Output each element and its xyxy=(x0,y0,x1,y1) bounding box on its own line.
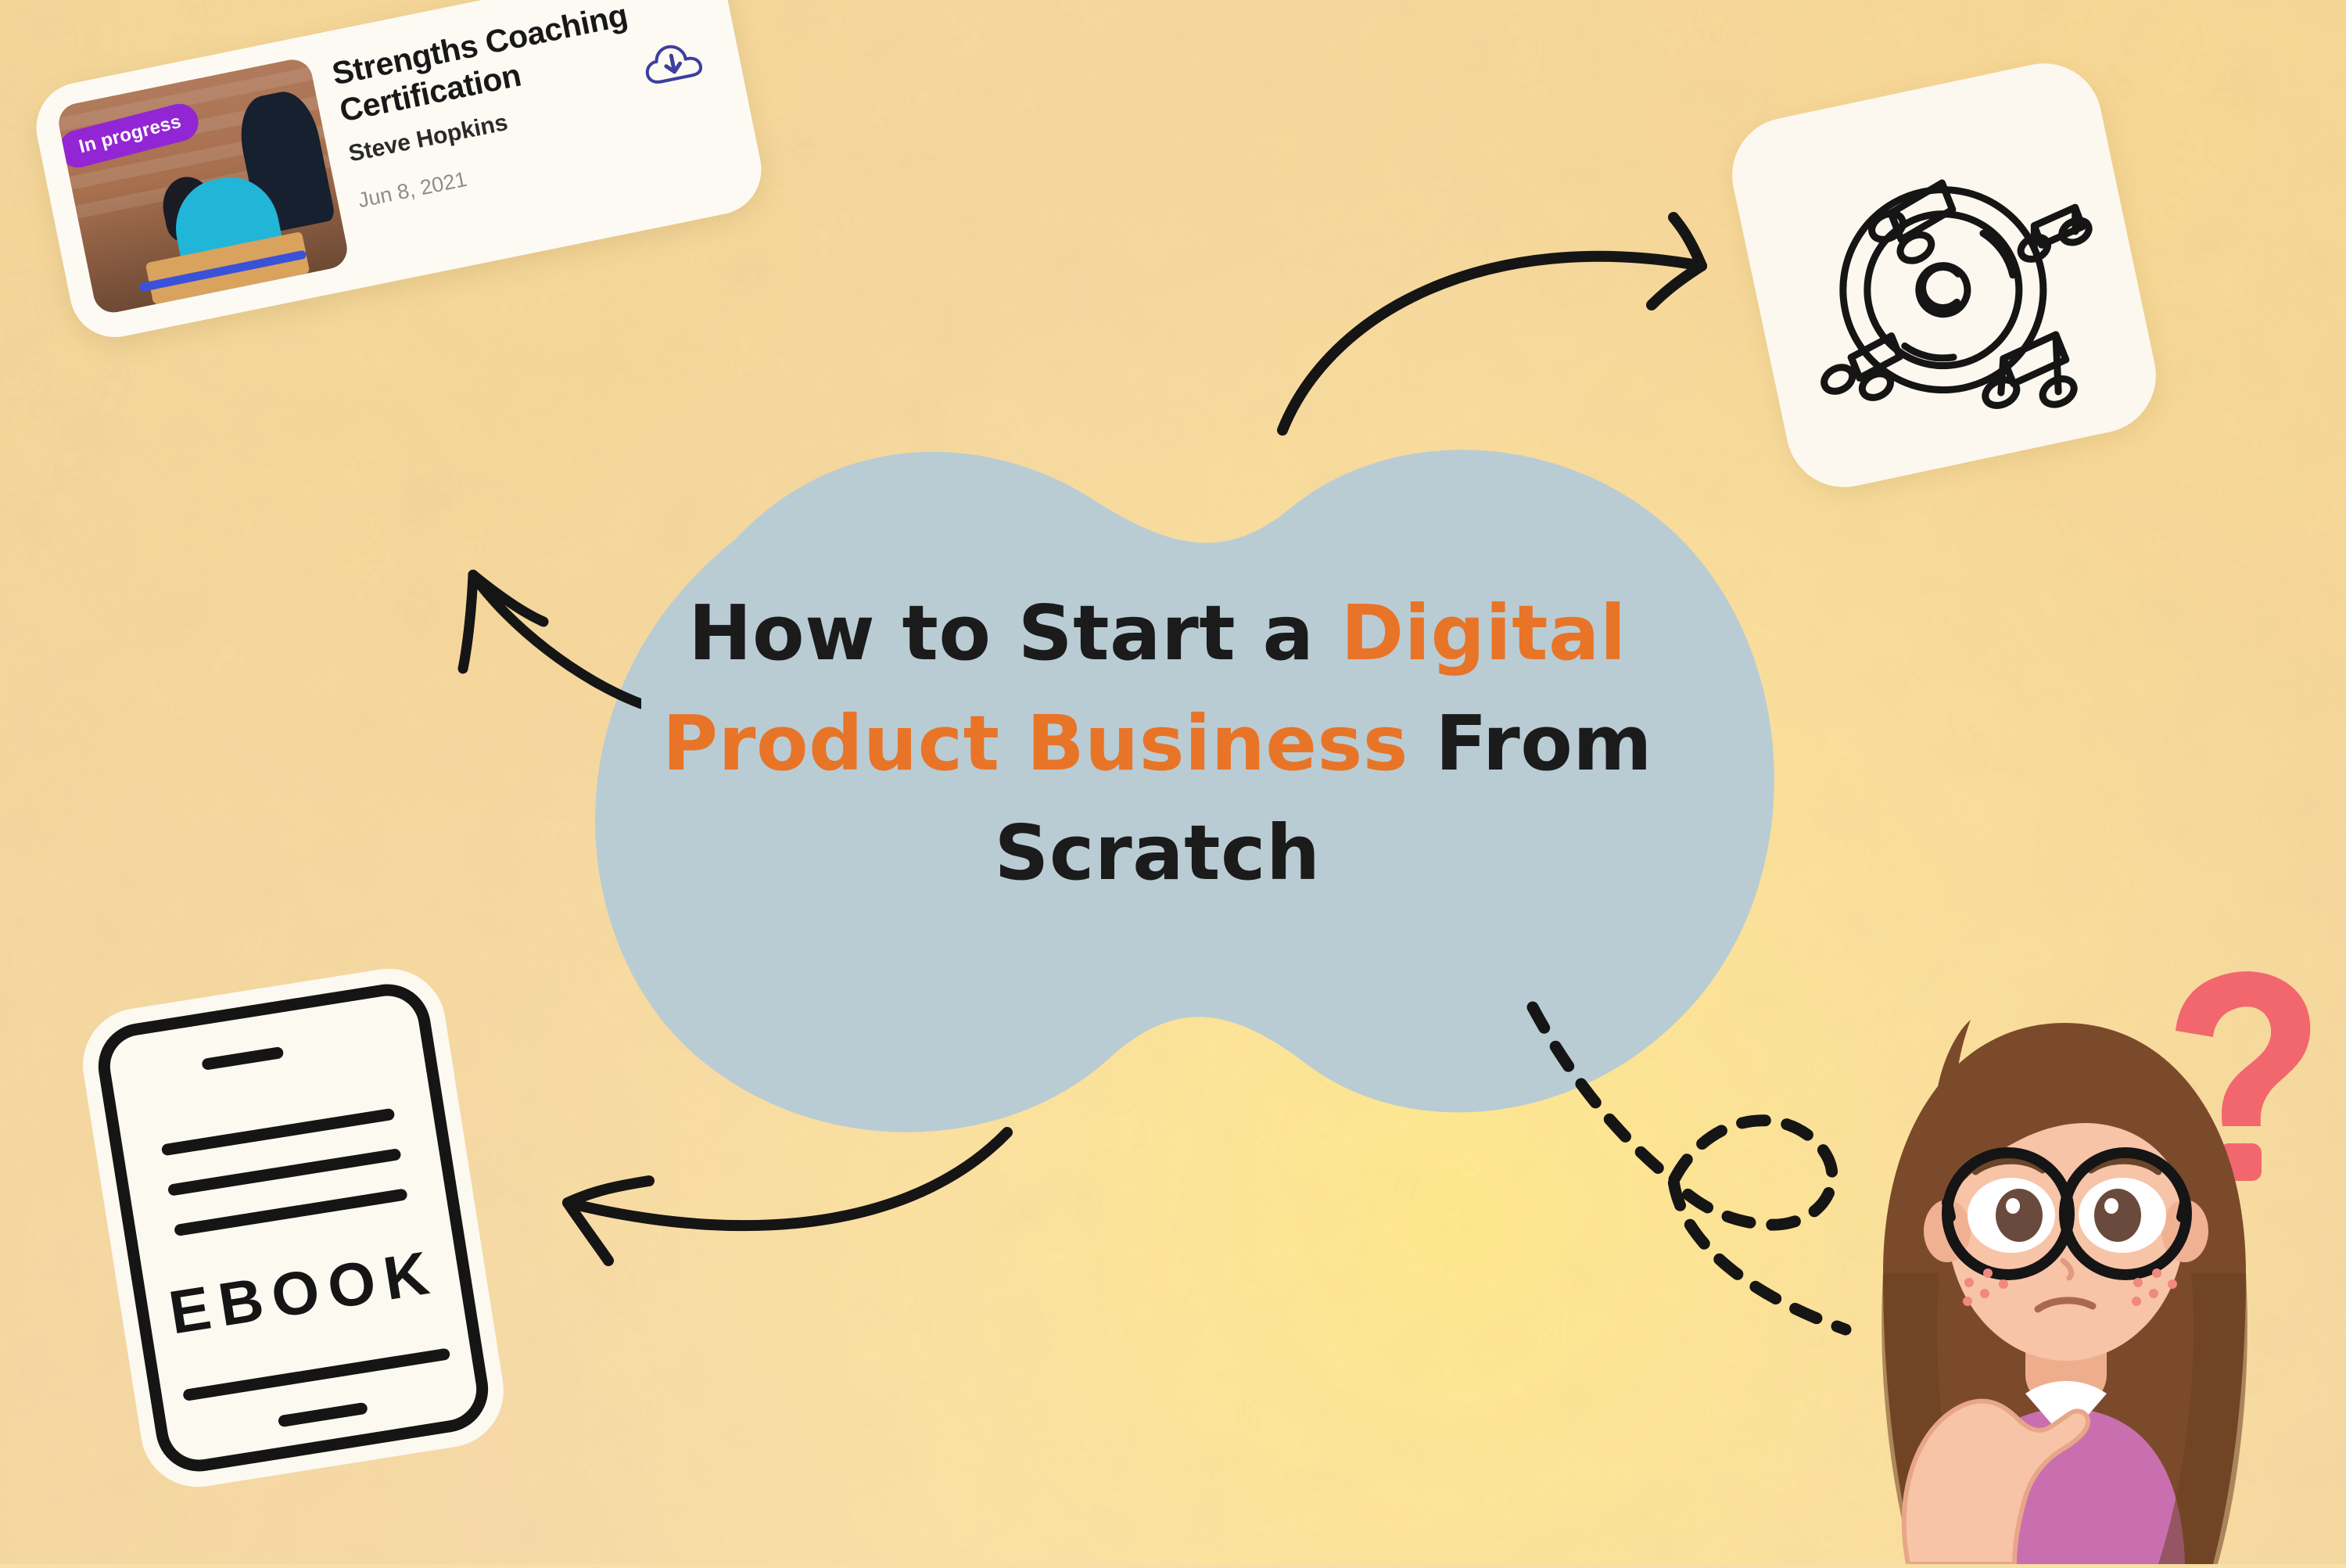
title-seg-plain: How to Start a xyxy=(688,589,1340,677)
title-line-3: Scratch xyxy=(547,798,1767,909)
title-line-1: How to Start a Digital xyxy=(547,579,1767,689)
course-card-body: Strengths Coaching Certification Steve H… xyxy=(328,0,732,213)
vinyl-record-with-music-notes-icon xyxy=(1749,81,2139,470)
title-line-2: Product Business From xyxy=(547,689,1767,799)
ebook-tablet-tile[interactable]: EBOOK xyxy=(74,960,512,1496)
thinking-girl-illustration xyxy=(1791,945,2338,1564)
title-seg-accent: Product Business xyxy=(662,699,1408,788)
tablet-ebook-icon: EBOOK xyxy=(74,960,512,1496)
course-thumbnail: In progress xyxy=(56,56,351,316)
title-seg-plain: From xyxy=(1408,699,1652,788)
music-record-tile[interactable] xyxy=(1721,52,2166,497)
title-seg-accent: Digital xyxy=(1341,589,1627,677)
page-title: How to Start a Digital Product Business … xyxy=(547,579,1767,909)
title-seg-plain: Scratch xyxy=(994,809,1320,897)
